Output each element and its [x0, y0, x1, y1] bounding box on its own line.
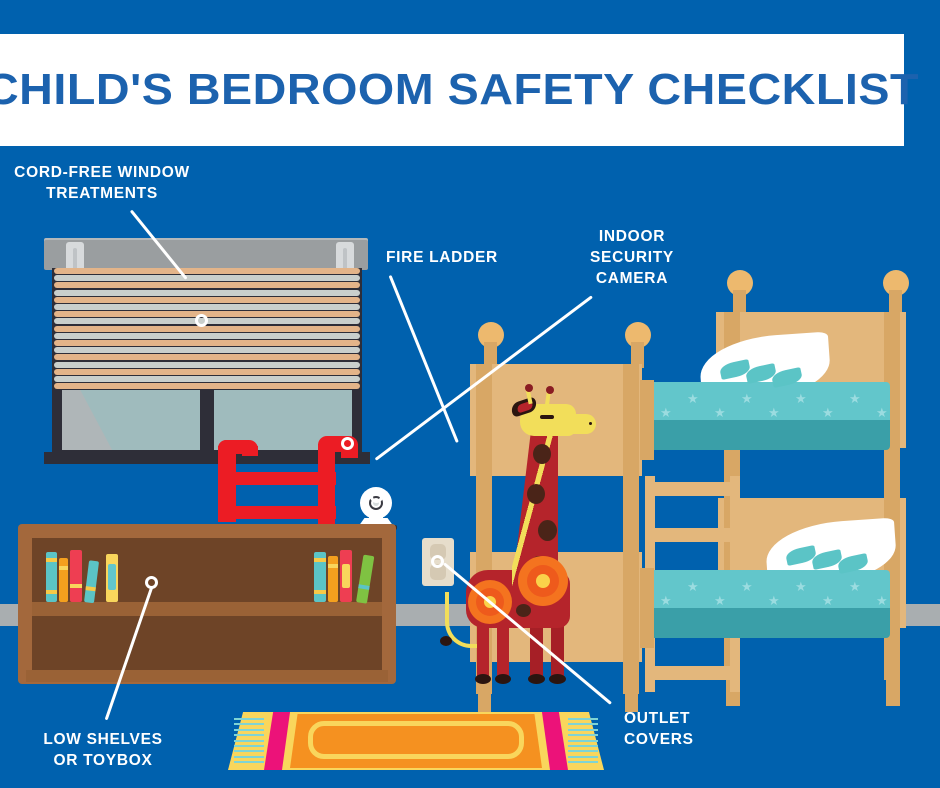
- rug-fringe: [234, 761, 264, 763]
- blind-slat: [54, 268, 360, 274]
- area-rug: [228, 706, 604, 774]
- callout-dot-fire-ladder: [341, 437, 354, 450]
- blind-slat: [54, 376, 360, 382]
- blind-slat: [54, 297, 360, 303]
- blind-slat: [54, 275, 360, 281]
- cordless-venetian-blinds: [54, 268, 360, 390]
- blind-slat: [54, 340, 360, 346]
- rug-fringe: [568, 756, 598, 758]
- callout-label-fire-ladder: FIRE LADDER: [386, 247, 566, 268]
- mattress-star-pattern: ★: [741, 580, 753, 593]
- mattress-star-pattern: ★: [714, 406, 726, 419]
- mattress-star-pattern: ★: [660, 406, 672, 419]
- mattress-star-pattern: ★: [876, 594, 888, 607]
- blind-slat: [54, 326, 360, 332]
- rug-fringe: [568, 750, 598, 752]
- rug-fringe: [234, 745, 264, 747]
- mattress-star-pattern: ★: [795, 580, 807, 593]
- rug-fringe: [568, 718, 598, 720]
- callout-dot-security-camera: [370, 490, 383, 503]
- blind-slat: [54, 304, 360, 310]
- blind-slat: [54, 290, 360, 296]
- mattress-star-pattern: ★: [660, 594, 672, 607]
- infographic-canvas: CHILD'S BEDROOM SAFETY CHECKLIST: [0, 0, 940, 788]
- bunk-lower-mattress-base: [650, 608, 890, 638]
- rug-fringe: [568, 740, 598, 742]
- shelf-bottom-board: [26, 670, 388, 682]
- bunk-ladder-rung: [645, 528, 740, 542]
- mattress-star-pattern: ★: [714, 594, 726, 607]
- shelf-lower-back: [32, 616, 382, 672]
- mattress-star-pattern: ★: [876, 406, 888, 419]
- rug-fringe: [234, 756, 264, 758]
- callout-dot-outlet-covers: [431, 555, 444, 568]
- rug-fringe: [234, 750, 264, 752]
- book: [328, 556, 338, 602]
- rug-fringe: [234, 723, 264, 725]
- rug-fringe: [234, 734, 264, 736]
- window-valance: [44, 240, 368, 270]
- book: [59, 558, 68, 602]
- book: [70, 550, 82, 602]
- mattress-star-pattern: ★: [795, 392, 807, 405]
- blind-slat: [54, 383, 360, 389]
- mattress-star-pattern: ★: [741, 392, 753, 405]
- bunk-ladder-rung: [645, 482, 740, 496]
- rug-fringe: [568, 761, 598, 763]
- bunk-upper-mattress-base: [650, 420, 890, 450]
- callout-dot-low-shelves: [145, 576, 158, 589]
- page-title: CHILD'S BEDROOM SAFETY CHECKLIST: [0, 34, 931, 146]
- mattress-star-pattern: ★: [768, 406, 780, 419]
- mattress-star-pattern: ★: [687, 580, 699, 593]
- rug-fringe: [568, 734, 598, 736]
- rug-fringe: [568, 723, 598, 725]
- bunk-post: [623, 364, 639, 694]
- mattress-star-pattern: ★: [822, 594, 834, 607]
- leader-line-fire-ladder: [389, 275, 459, 443]
- mattress-star-pattern: ★: [687, 392, 699, 405]
- blind-slat: [54, 369, 360, 375]
- callout-dot-cord-free: [195, 314, 208, 327]
- rug-fringe: [234, 718, 264, 720]
- mattress-star-pattern: ★: [849, 580, 861, 593]
- rug-fringe: [234, 729, 264, 731]
- book: [314, 552, 326, 602]
- blind-slat: [54, 362, 360, 368]
- rug-fringe: [568, 729, 598, 731]
- blind-slat: [54, 333, 360, 339]
- book: [106, 554, 118, 602]
- callout-label-low-shelves: LOW SHELVES OR TOYBOX: [8, 729, 198, 771]
- mattress-star-pattern: ★: [822, 406, 834, 419]
- mattress-star-pattern: ★: [768, 594, 780, 607]
- blind-slat: [54, 354, 360, 360]
- rug-fringe: [234, 740, 264, 742]
- mattress-star-pattern: ★: [849, 392, 861, 405]
- bunk-ladder-rung: [645, 666, 740, 680]
- callout-label-outlet-covers: OUTLET COVERS: [624, 708, 804, 750]
- rug-fringe: [568, 745, 598, 747]
- callout-label-cord-free-window-treatments: CORD-FREE WINDOW TREATMENTS: [4, 162, 200, 204]
- shelf-middle-board: [32, 602, 382, 616]
- low-bookshelf: [18, 524, 396, 684]
- title-band: CHILD'S BEDROOM SAFETY CHECKLIST: [0, 34, 904, 146]
- book: [340, 550, 352, 602]
- blind-slat: [54, 347, 360, 353]
- callout-label-indoor-security-camera: INDOOR SECURITY CAMERA: [552, 226, 712, 289]
- book: [46, 552, 57, 602]
- blind-slat: [54, 282, 360, 288]
